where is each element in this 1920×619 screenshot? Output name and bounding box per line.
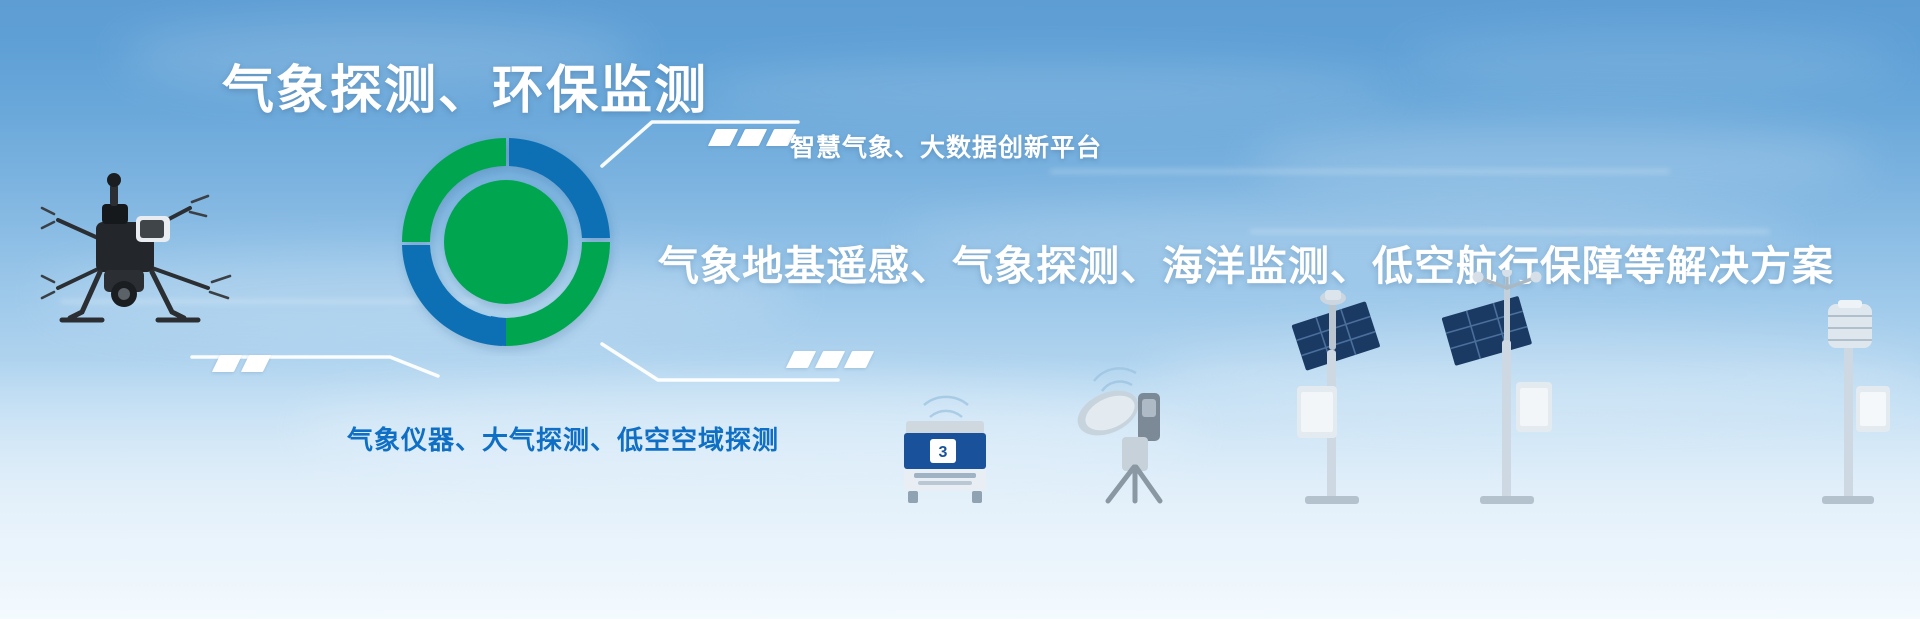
ground-fade: [0, 579, 1920, 619]
solar-anemometer-station-icon: [1420, 270, 1570, 505]
slash-mark: [708, 129, 738, 146]
cloud-shape: [700, 60, 1400, 120]
drone-icon: [40, 160, 310, 350]
svg-text:3: 3: [939, 444, 948, 461]
sensor-tower-icon: [1800, 300, 1910, 505]
slash-mark: [241, 355, 271, 372]
cloud-streak: [1050, 170, 1670, 173]
slash-mark: [844, 351, 874, 368]
slash-accent-marks: [216, 355, 267, 372]
slash-accent-marks: [790, 351, 870, 368]
bottom-keyword-line: 气象仪器、大气探测、低空空域探测: [347, 420, 779, 457]
cloud-shape: [1250, 120, 1870, 200]
laser-radar-cabinet-icon: 3: [890, 385, 1000, 505]
slash-accent-marks: [712, 129, 792, 146]
dish-antenna-icon: [1060, 355, 1200, 505]
page-title: 气象探测、环保监测: [222, 48, 708, 123]
slash-mark: [212, 355, 242, 372]
slash-mark: [737, 129, 767, 146]
weather-detection-banner: 气象探测、环保监测 智慧气象、大数据: [0, 0, 1920, 619]
solar-weather-station-icon: [1275, 290, 1395, 505]
main-solution-line: 气象地基遥感、气象探测、海洋监测、低空航行保障等解决方案: [658, 232, 1834, 292]
slash-mark: [786, 351, 816, 368]
slash-mark: [815, 351, 845, 368]
cloud-shape: [1400, 30, 1900, 90]
callout-top-label: 智慧气象、大数据创新平台: [790, 128, 1102, 164]
ring-donut-icon: [392, 128, 620, 356]
